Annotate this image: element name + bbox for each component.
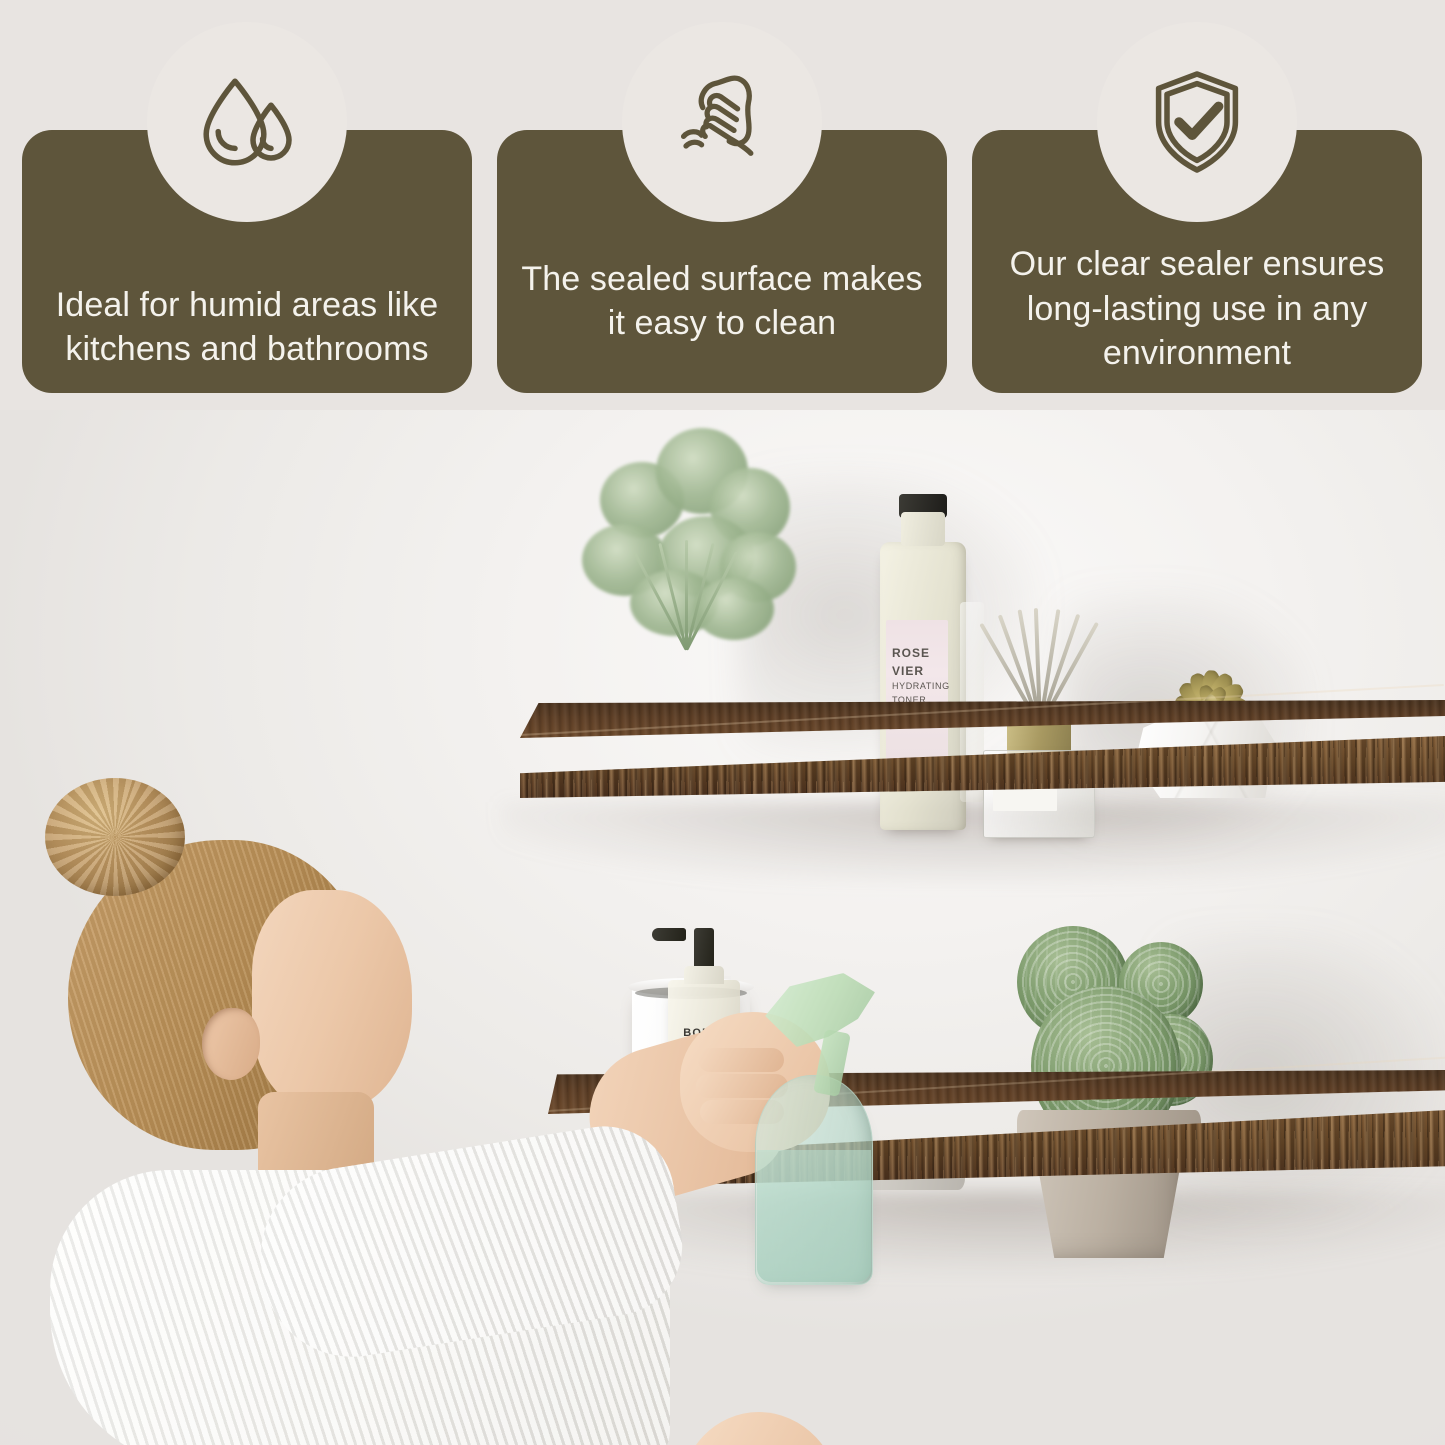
feature-card-humid-areas: Ideal for humid areas like kitchens and … bbox=[22, 130, 472, 393]
girl-face bbox=[252, 890, 412, 1110]
feature-card-long-lasting: Our clear sealer ensures long-lasting us… bbox=[972, 130, 1422, 393]
feature-card-easy-clean: The sealed surface makes it easy to clea… bbox=[497, 130, 947, 393]
fern-plant bbox=[560, 420, 810, 650]
shield-check-icon bbox=[1097, 22, 1297, 222]
young-girl bbox=[0, 740, 830, 1445]
hand-wiping-cloth-icon bbox=[622, 22, 822, 222]
feature-cards-row: Ideal for humid areas like kitchens and … bbox=[22, 130, 1422, 393]
spray-bottle-trigger bbox=[753, 973, 875, 1047]
girl-ear bbox=[202, 1008, 260, 1080]
product-feature-image: Ideal for humid areas like kitchens and … bbox=[0, 0, 1445, 1445]
water-droplets-icon bbox=[147, 22, 347, 222]
green-spray-bottle bbox=[745, 955, 880, 1285]
feature-card-text: Ideal for humid areas like kitchens and … bbox=[22, 283, 472, 375]
girl-hand-holding-bottle bbox=[680, 1412, 840, 1445]
spray-bottle-water bbox=[757, 1150, 871, 1282]
feature-card-text: Our clear sealer ensures long-lasting us… bbox=[972, 242, 1422, 375]
lifestyle-photo: chout ROSE VIER HYDRATING TONER LA MALOB… bbox=[0, 410, 1445, 1445]
bottle-neck bbox=[901, 512, 945, 546]
feature-card-text: The sealed surface makes it easy to clea… bbox=[497, 257, 947, 375]
upper-shelf-top-surface bbox=[520, 700, 1445, 738]
girl-hair-bun bbox=[45, 778, 185, 896]
